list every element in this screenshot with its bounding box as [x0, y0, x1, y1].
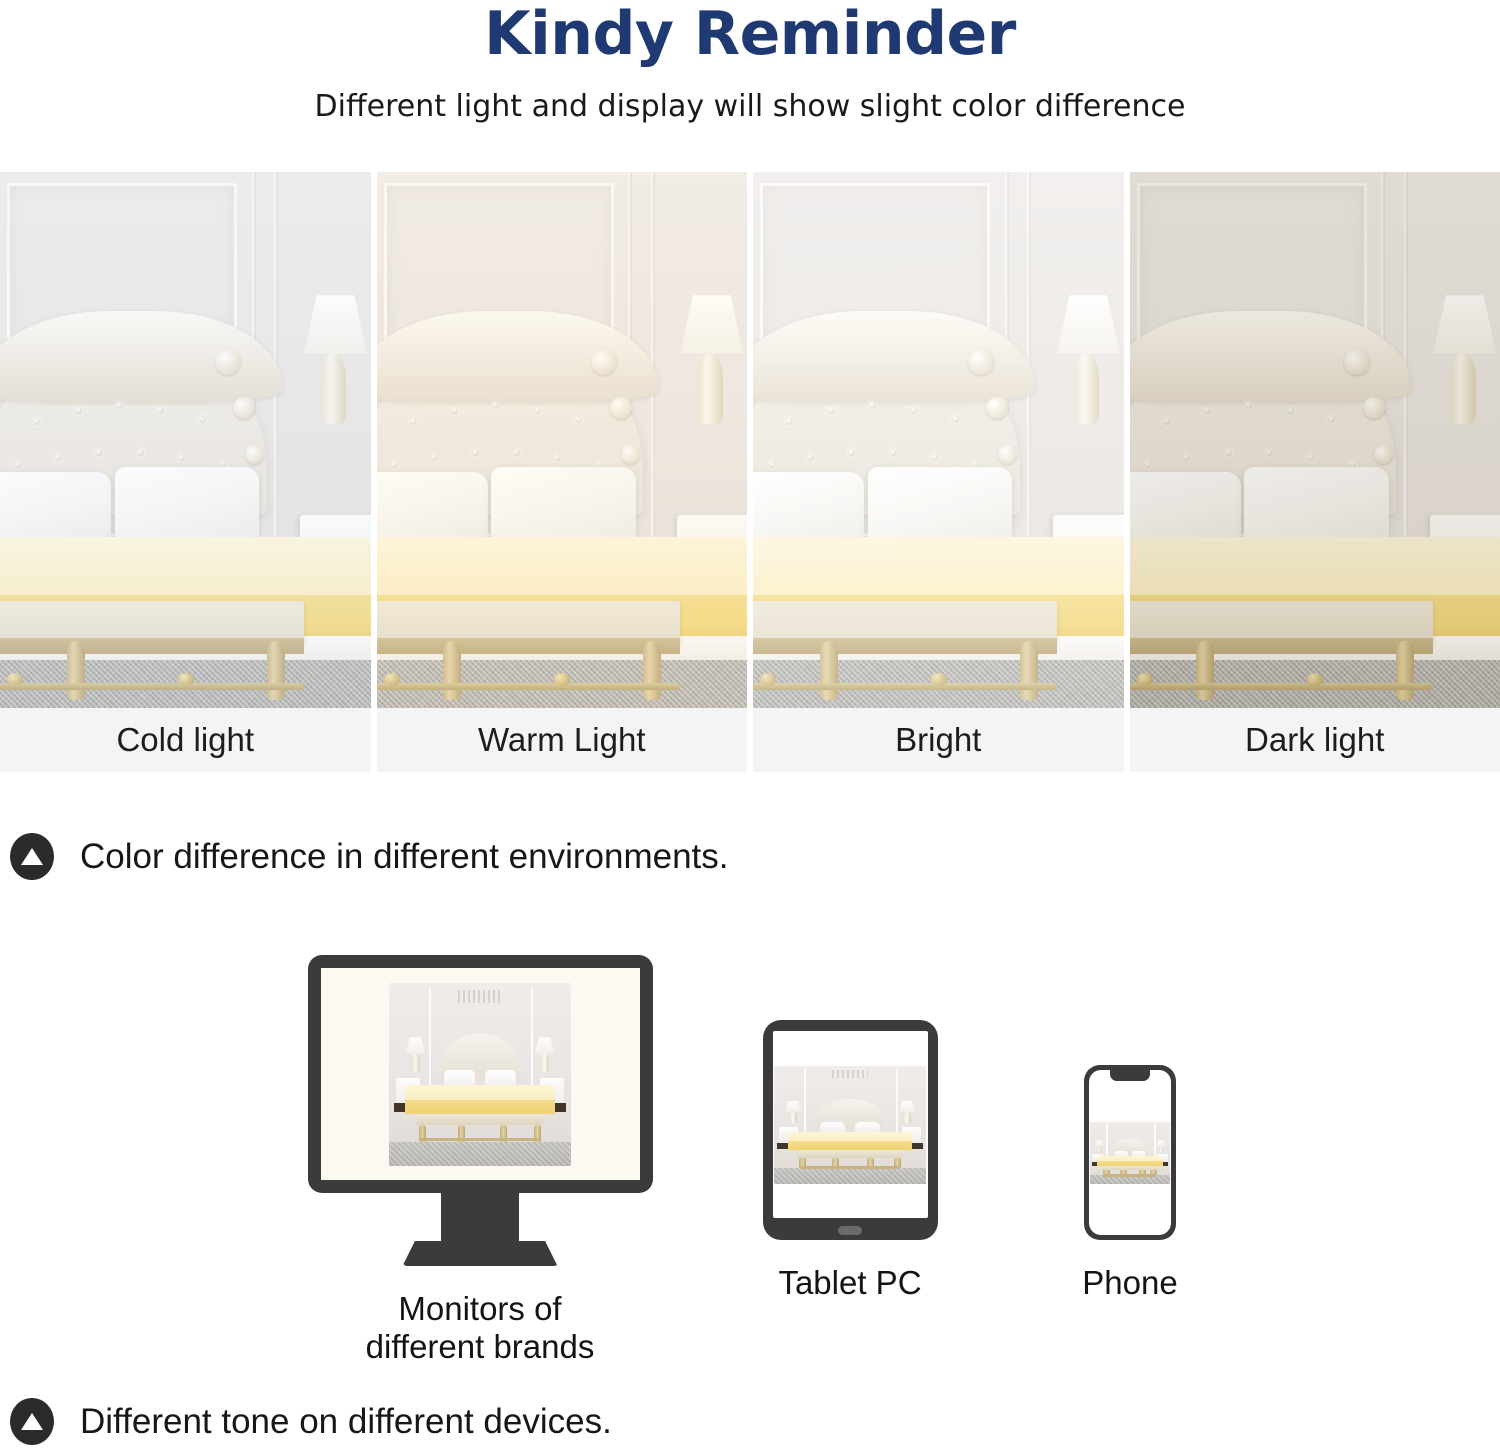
phone-caption: Phone	[1010, 1264, 1250, 1302]
phone-screen	[1089, 1070, 1171, 1235]
carved-scroll	[968, 349, 994, 375]
bedroom-photo	[753, 172, 1124, 708]
bench-apron	[1130, 638, 1434, 654]
fitted-sheet-top	[753, 537, 1124, 596]
bedroom-photo	[377, 172, 748, 708]
panel-label-dark: Dark light	[1130, 708, 1500, 772]
page-subtitle: Different light and display will show sl…	[0, 89, 1500, 124]
pillow	[115, 467, 259, 547]
bench-seat	[753, 601, 1057, 644]
bench-apron	[753, 638, 1057, 654]
bench-seat	[0, 601, 304, 644]
bedroom-photo	[1130, 172, 1500, 708]
pillow	[868, 467, 1012, 547]
monitor-frame	[308, 955, 653, 1193]
bedroom-photo	[0, 172, 371, 708]
bullet-devices: Different tone on different devices.	[10, 1398, 612, 1445]
light-panel-cold: Cold light	[0, 172, 371, 772]
carved-scroll	[245, 445, 264, 464]
lamp-base	[1450, 354, 1476, 424]
tablet-screen	[773, 1031, 928, 1218]
tablet-caption-line1: Tablet PC	[700, 1264, 1000, 1302]
light-comparison-strip: Cold light	[0, 172, 1500, 772]
panel-label-text: Warm Light	[478, 721, 645, 759]
device-comparison: Monitors of different brands	[0, 955, 1500, 1375]
bedroom-thumbnail	[1090, 1122, 1170, 1184]
fitted-sheet-top	[1130, 537, 1500, 596]
tablet-home-button[interactable]	[838, 1226, 862, 1235]
light-panel-bright: Bright	[753, 172, 1124, 772]
bullet-environments-text: Color difference in different environmen…	[80, 837, 729, 877]
phone-notch	[1110, 1070, 1150, 1081]
bench-apron	[377, 638, 681, 654]
monitor-caption-line2: different brands	[250, 1328, 710, 1366]
panel-label-text: Cold light	[116, 721, 254, 759]
phone-frame	[1084, 1065, 1176, 1240]
triangle-up-in-circle-icon	[10, 1398, 54, 1445]
pillow	[0, 472, 111, 547]
monitor-base	[403, 1241, 558, 1266]
page-title: Kindy Reminder	[0, 2, 1500, 67]
monitor-neck	[441, 1193, 519, 1241]
pillow	[1130, 472, 1241, 547]
light-panel-warm: Warm Light	[377, 172, 748, 772]
bench-seat	[377, 601, 681, 644]
monitor-screen	[321, 968, 640, 1180]
device-monitor: Monitors of different brands	[250, 955, 710, 1367]
monitor-caption: Monitors of different brands	[250, 1290, 710, 1367]
lamp-base	[697, 354, 723, 424]
panel-label-bright: Bright	[753, 708, 1124, 772]
panel-label-text: Bright	[895, 721, 981, 759]
bench-stretcher	[377, 683, 681, 690]
device-tablet: Tablet PC	[700, 1020, 1000, 1302]
bench-seat	[1130, 601, 1434, 644]
tablet-caption: Tablet PC	[700, 1264, 1000, 1302]
bedroom-thumbnail	[774, 1066, 926, 1184]
pillow	[753, 472, 864, 547]
tablet-frame	[763, 1020, 938, 1240]
monitor-caption-line1: Monitors of	[250, 1290, 710, 1328]
bench-stretcher	[0, 683, 304, 690]
pillow	[377, 472, 488, 547]
panel-label-cold: Cold light	[0, 708, 371, 772]
carved-scroll	[998, 445, 1017, 464]
bullet-environments: Color difference in different environmen…	[10, 833, 729, 880]
bullet-devices-text: Different tone on different devices.	[80, 1402, 612, 1442]
header: Kindy Reminder Different light and displ…	[0, 0, 1500, 124]
bench-apron	[0, 638, 304, 654]
fitted-sheet-top	[0, 537, 371, 596]
bench-stretcher	[1130, 683, 1434, 690]
pillow	[1244, 467, 1388, 547]
pillow	[491, 467, 635, 547]
triangle-up-in-circle-icon	[10, 833, 54, 880]
lamp-base	[321, 354, 347, 424]
light-panel-dark: Dark light	[1130, 172, 1500, 772]
bench-stretcher	[753, 683, 1057, 690]
panel-label-text: Dark light	[1245, 721, 1384, 759]
phone-caption-line1: Phone	[1010, 1264, 1250, 1302]
device-phone: Phone	[1010, 1065, 1250, 1302]
carved-scroll	[215, 349, 241, 375]
lamp-base	[1074, 354, 1100, 424]
panel-label-warm: Warm Light	[377, 708, 748, 772]
bedroom-thumbnail	[389, 983, 571, 1166]
fitted-sheet-top	[377, 537, 748, 596]
